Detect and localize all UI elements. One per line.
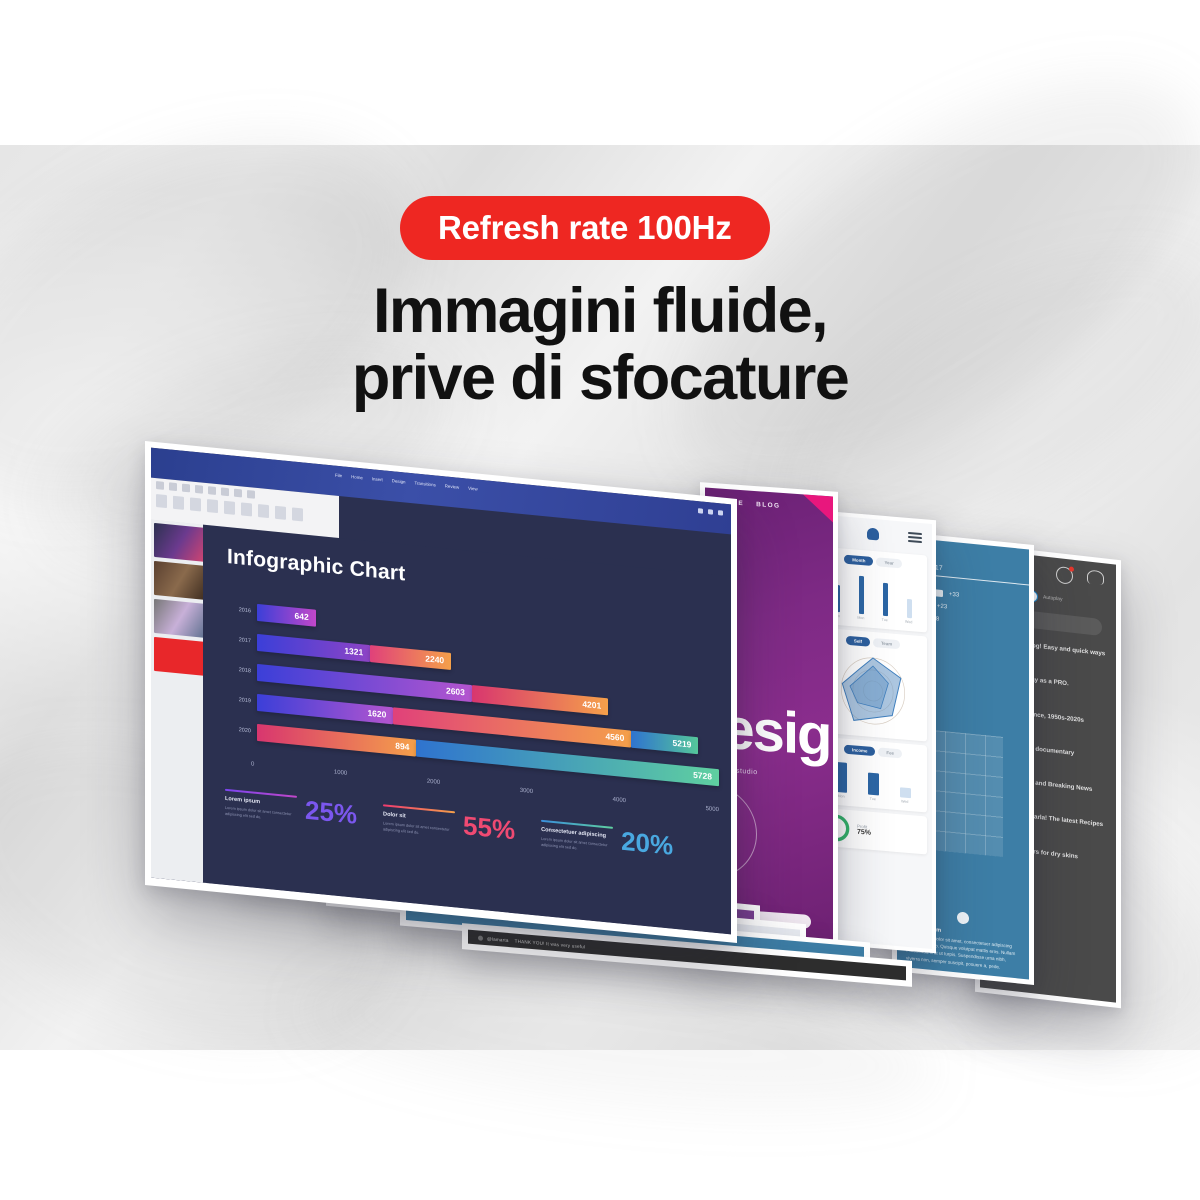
autoplay-label: Autoplay: [1043, 594, 1062, 602]
stat-block: Lorem ipsum Lorem ipsum dolor sit amet c…: [225, 789, 357, 830]
slide-thumbnail[interactable]: [154, 523, 206, 562]
tool-icon[interactable]: [169, 482, 177, 491]
bar-segment: 1321: [257, 633, 370, 661]
bar-segment: 2240: [370, 645, 451, 670]
tab-review[interactable]: Review: [445, 483, 459, 489]
axis-tick-x: 4000: [613, 797, 626, 804]
tool-icon[interactable]: [195, 485, 203, 494]
delta-value: +23: [937, 603, 947, 610]
segment-option[interactable]: Income: [844, 745, 875, 757]
bar-segment: 5219: [631, 730, 698, 754]
window-controls[interactable]: [698, 508, 723, 515]
axis-tick-y: 2018: [221, 665, 257, 675]
segment-option[interactable]: Self: [846, 636, 870, 647]
menu-icon[interactable]: [908, 532, 922, 543]
stat-block: Consectetuer adipiscing Lorem ipsum dolo…: [541, 820, 673, 861]
avatar: [478, 935, 483, 940]
axis-tick: Tue: [882, 618, 888, 623]
bar-segment: 1620: [257, 693, 393, 723]
bar-segment: 894: [257, 723, 416, 756]
tool-icon[interactable]: [241, 502, 252, 516]
tab-transitions[interactable]: Transitions: [414, 480, 435, 487]
tool-icon[interactable]: [247, 490, 255, 499]
tool-icon[interactable]: [182, 484, 190, 493]
tool-icon[interactable]: [190, 497, 201, 511]
bar-chart: [825, 567, 921, 619]
segment-option[interactable]: Fee: [878, 747, 902, 758]
axis-tick-y: 2017: [221, 635, 257, 645]
axis-tick: Mon: [857, 616, 864, 621]
maximize-icon[interactable]: [708, 509, 713, 514]
tool-icon[interactable]: [208, 486, 216, 495]
tab-insert[interactable]: Insert: [372, 476, 383, 482]
window-stack: Autoplay Blog Blogging on Blog! Easy and…: [0, 0, 1200, 1200]
slide-thumbnail-panel[interactable]: [151, 520, 209, 884]
slide-thumbnail[interactable]: [154, 561, 206, 600]
segment-option[interactable]: Team: [873, 638, 900, 649]
axis-tick-y: 2016: [221, 605, 257, 615]
bell-icon[interactable]: [1087, 569, 1104, 585]
axis-tick: Mon: [838, 794, 845, 799]
tool-icon[interactable]: [156, 494, 167, 508]
stat-percent: 20%: [621, 828, 673, 859]
stat-block: Dolor sit Lorem ipsum dolor sit amet con…: [383, 804, 515, 845]
segment-option[interactable]: Year: [876, 557, 901, 568]
axis-tick-x: 1000: [334, 769, 347, 776]
testimonial-text: THANK YOU! It was very useful: [515, 938, 586, 949]
tab-design[interactable]: Design: [392, 478, 406, 484]
chat-icon[interactable]: [1056, 566, 1073, 585]
stat-percent: 55%: [463, 812, 515, 843]
axis-tick-x: 0: [251, 761, 254, 767]
axis-tick-y: 2020: [221, 725, 257, 735]
bar-chart: [825, 757, 921, 799]
bar-segment: 4201: [472, 685, 608, 715]
tool-icon[interactable]: [275, 506, 286, 520]
tool-icon[interactable]: [207, 499, 218, 513]
stat-percent: 25%: [305, 797, 357, 828]
profit-value: 75%: [857, 829, 871, 837]
tab-view[interactable]: View: [468, 486, 477, 492]
minimize-icon[interactable]: [698, 508, 703, 513]
tool-icon[interactable]: [258, 504, 269, 518]
close-icon[interactable]: [718, 510, 723, 515]
slide-thumbnail[interactable]: [154, 599, 206, 638]
tab-file[interactable]: File: [335, 473, 342, 479]
nav-item-blog[interactable]: BLOG: [756, 501, 780, 510]
delta-value: +33: [949, 592, 959, 599]
promo-banner: Refresh rate 100Hz Immagini fluide, priv…: [0, 0, 1200, 1200]
tool-icon[interactable]: [156, 481, 164, 490]
tool-icon[interactable]: [292, 507, 303, 521]
axis-tick: Wed: [905, 620, 912, 625]
status-dot-icon: [957, 911, 969, 924]
window-chart-app[interactable]: File Home Insert Design Transitions Revi…: [145, 441, 737, 943]
radar-chart: [825, 648, 921, 734]
slide-thumbnail[interactable]: [154, 637, 206, 676]
bar-segment: 642: [257, 603, 316, 626]
tab-home[interactable]: Home: [351, 474, 363, 480]
axis-tick-x: 2000: [427, 779, 440, 786]
tool-icon[interactable]: [224, 501, 235, 515]
axis-tick-x: 5000: [706, 806, 719, 813]
segment-option[interactable]: Month: [844, 555, 873, 566]
axis-tick-x: 3000: [520, 788, 533, 795]
slide-canvas[interactable]: Infographic Chart 2016 642 2017 1321: [203, 525, 731, 935]
chart-title: Infographic Chart: [227, 545, 405, 586]
tool-icon[interactable]: [221, 487, 229, 496]
axis-tick: Wed: [901, 799, 908, 804]
axis-tick: Tue: [870, 797, 876, 802]
axis-tick-y: 2019: [221, 695, 257, 705]
tool-icon[interactable]: [173, 496, 184, 510]
testimonial-handle: @lamarta: [487, 936, 509, 943]
corner-accent: [803, 494, 833, 522]
tool-icon[interactable]: [234, 489, 242, 498]
person-icon[interactable]: [867, 527, 879, 540]
